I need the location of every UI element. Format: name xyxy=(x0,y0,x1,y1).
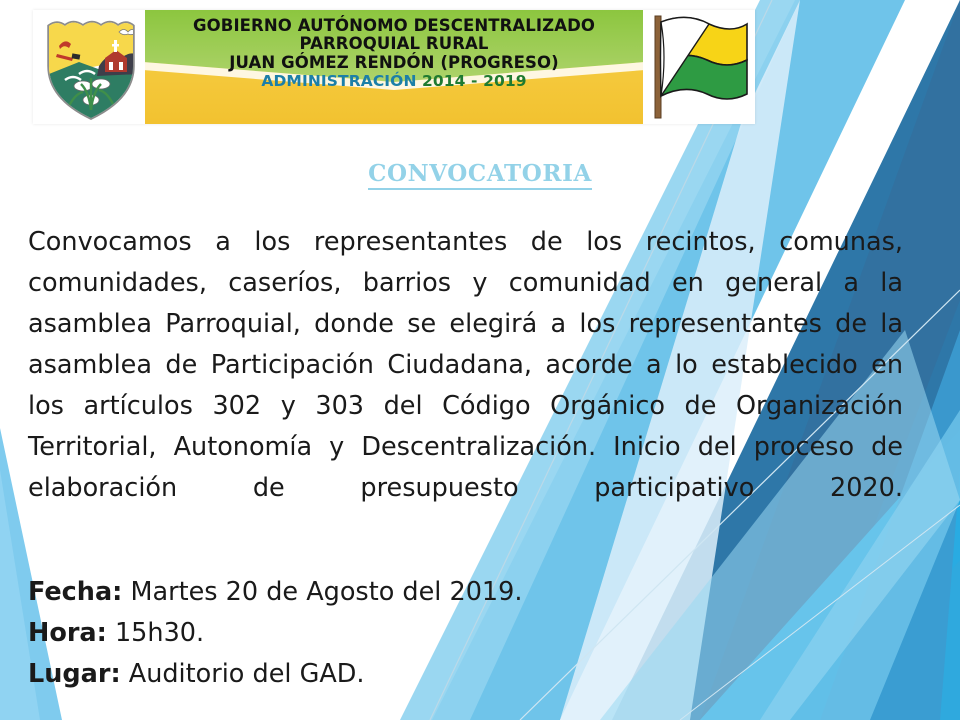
banner-line-1: GOBIERNO AUTÓNOMO DESCENTRALIZADO xyxy=(193,17,595,35)
detail-value-fecha: Martes 20 de Agosto del 2019. xyxy=(130,577,522,607)
paragraph-spacer xyxy=(28,550,903,572)
header-banner: GOBIERNO AUTÓNOMO DESCENTRALIZADO PARROQ… xyxy=(33,10,755,124)
flag-icon xyxy=(647,12,751,122)
detail-value-hora: 15h30. xyxy=(115,618,204,648)
banner-text-block: GOBIERNO AUTÓNOMO DESCENTRALIZADO PARROQ… xyxy=(143,10,645,124)
detail-row-lugar: Lugar: Auditorio del GAD. xyxy=(28,654,903,695)
banner-administracion-years: 2014 - 2019 xyxy=(422,72,527,90)
banner-administracion-label: ADMINISTRACIÓN xyxy=(261,72,416,90)
slide-canvas: GOBIERNO AUTÓNOMO DESCENTRALIZADO PARROQ… xyxy=(0,0,960,720)
detail-label-hora: Hora: xyxy=(28,618,107,648)
closing-spacer xyxy=(28,695,903,717)
page-title: CONVOCATORIA xyxy=(0,160,960,187)
coat-of-arms-icon xyxy=(39,14,143,120)
detail-label-fecha: Fecha: xyxy=(28,577,122,607)
detail-row-fecha: Fecha: Martes 20 de Agosto del 2019. xyxy=(28,572,903,613)
page-title-text: CONVOCATORIA xyxy=(368,160,592,190)
convocation-paragraph: Convocamos a los representantes de los r… xyxy=(28,222,903,550)
detail-label-lugar: Lugar: xyxy=(28,659,121,689)
banner-line-2: PARROQUIAL RURAL xyxy=(299,35,488,53)
detail-row-hora: Hora: 15h30. xyxy=(28,613,903,654)
banner-line-3: JUAN GÓMEZ RENDÓN (PROGRESO) xyxy=(229,54,559,72)
content-body: Convocamos a los representantes de los r… xyxy=(28,222,903,720)
detail-value-lugar: Auditorio del GAD. xyxy=(129,659,365,689)
banner-line-4: ADMINISTRACIÓN 2014 - 2019 xyxy=(261,73,526,90)
